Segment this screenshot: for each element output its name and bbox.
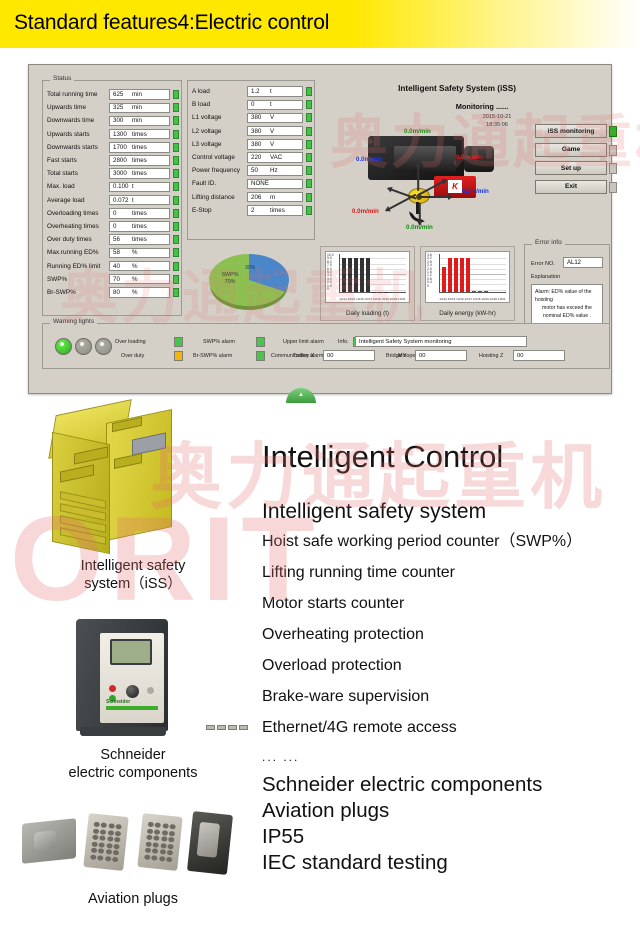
- plug-pin: [167, 843, 173, 849]
- status-row-label: Over duty times: [47, 236, 109, 243]
- status-row: Over duty times56times: [43, 233, 181, 246]
- status-row-field[interactable]: 58%: [109, 248, 170, 259]
- lamp-indicator-2: [75, 338, 92, 355]
- status-row-unit: Hz: [270, 167, 278, 174]
- error-no-field[interactable]: AL12: [563, 257, 603, 268]
- status-row-led: [306, 127, 312, 136]
- status-row-unit: t: [132, 197, 134, 204]
- status-row: Downwards starts1700times: [43, 141, 181, 154]
- status-row: Overloading times0times: [43, 207, 181, 220]
- status-row-label: SWP%: [47, 276, 109, 283]
- status-row: Max.running ED%58%: [43, 246, 181, 259]
- plug-pin: [145, 848, 151, 854]
- plug-pin: [159, 849, 165, 855]
- status-row-field[interactable]: 220VAC: [247, 152, 303, 163]
- tail-list: Schneider electric componentsAviation pl…: [262, 772, 634, 877]
- plug-pin: [146, 834, 152, 840]
- chart-xtick: 10/17: [365, 297, 373, 301]
- drive-screen: [110, 639, 152, 665]
- status-row: Average load0.072t: [43, 194, 181, 207]
- status-row-label: Upwards time: [47, 104, 109, 111]
- status-row-label: Total running time: [47, 91, 109, 98]
- plug-pin: [99, 842, 105, 848]
- chart-xtick: 10/14: [339, 297, 347, 301]
- hmi-screenshot-panel: Status Total running time625minUpwards t…: [28, 64, 612, 394]
- warning-indicator: [256, 337, 265, 347]
- daily-loading-yticks: 10.09.08.07.06.05.04.03.02.01.00: [327, 254, 334, 291]
- status-row-label: Downwards time: [47, 117, 109, 124]
- hmi-button-indicator: [609, 182, 617, 193]
- status-row-value: 1300: [110, 131, 132, 138]
- status-row-label: Upwards starts: [47, 131, 109, 138]
- status-row-label: Br-SWP%: [47, 289, 109, 296]
- feature-item: Motor starts counter: [262, 595, 634, 613]
- explanation-line-3: nominal ED% value .: [535, 312, 599, 320]
- status-row: SWP%70%: [43, 273, 181, 286]
- plug-pin: [107, 836, 113, 842]
- status-row-field[interactable]: 1700times: [109, 142, 170, 153]
- hmi-button-label: Exit: [565, 183, 577, 190]
- chart-xtick: 10/20: [490, 297, 498, 301]
- feature-list: Hoist safe working period counter（SWP%）L…: [262, 533, 634, 736]
- status-row: Upwards time325min: [43, 101, 181, 114]
- status-row-led: [173, 143, 179, 152]
- daily-loading-plot: [339, 254, 406, 293]
- warning-indicator: [174, 337, 183, 347]
- status-row-unit: V: [270, 114, 274, 121]
- warning-label: Over loading: [115, 339, 146, 345]
- status-row-unit: V: [270, 141, 274, 148]
- schneider-brand-bar: [106, 706, 158, 710]
- plug-pin: [116, 824, 122, 830]
- plug-pin: [100, 829, 106, 835]
- product-caption-schneider: Schneider electric components: [14, 747, 252, 782]
- status-row-led: [306, 166, 312, 175]
- status-row: Lifting distance206m: [188, 191, 314, 204]
- status-row-value: 300: [110, 117, 132, 124]
- status-row-field[interactable]: 1300times: [109, 129, 170, 140]
- status-row-value: 80: [110, 289, 132, 296]
- status-row-label: L3 voltage: [192, 141, 247, 148]
- hmi-button-game[interactable]: Game: [535, 143, 607, 157]
- status-row-label: Max.running ED%: [47, 249, 109, 256]
- status-row-field[interactable]: 0.072t: [109, 195, 170, 206]
- warning-indicator: [174, 351, 183, 361]
- speed-up: 0.0m/min: [404, 128, 431, 135]
- plug-pin: [145, 841, 151, 847]
- plug-pin: [108, 823, 114, 829]
- status-row-value: 1.2: [248, 88, 270, 95]
- status-row-value: 70: [110, 276, 132, 283]
- status-row-field[interactable]: NONE: [247, 179, 303, 190]
- chart-xtick: 10/15: [348, 297, 356, 301]
- chart-xtick: 10/14: [439, 297, 447, 301]
- hmi-button-exit[interactable]: Exit: [535, 180, 607, 194]
- plug-pin: [90, 854, 96, 860]
- tail-item: IP55: [262, 824, 634, 850]
- plug-pin: [113, 843, 119, 849]
- status-row-label: B load: [192, 101, 247, 108]
- daily-energy-yticks: 3.63.22.82.42.01.61.20.80.40: [427, 254, 432, 288]
- status-row-unit: t: [270, 88, 272, 95]
- chart-xtick: 10/21: [398, 297, 406, 301]
- status-row-value: 3000: [110, 170, 132, 177]
- plug-pin: [112, 856, 118, 862]
- chart-xtick: 10/21: [498, 297, 506, 301]
- status-row-field[interactable]: 80%: [109, 287, 170, 298]
- status-row-label: Power frequency: [192, 167, 247, 174]
- chart-xtick: 10/19: [381, 297, 389, 301]
- status-row-label: Control voltage: [192, 154, 247, 161]
- chart-bar: [448, 258, 452, 292]
- status-row-value: 220: [248, 154, 270, 161]
- status-row-field[interactable]: 3000times: [109, 168, 170, 179]
- status-row-field[interactable]: 70%: [109, 274, 170, 285]
- daily-energy-xticks: 10/1410/1510/1610/1710/1810/1910/2010/21: [439, 297, 506, 301]
- error-info-title: Error info: [532, 239, 565, 246]
- hmi-button-column: iSS monitoringGameSet upExit: [535, 124, 607, 198]
- status-row-value: 0: [248, 101, 270, 108]
- chart-xtick: 10/17: [465, 297, 473, 301]
- plug-pin: [153, 835, 159, 841]
- daily-energy-chart: 3.63.22.82.42.01.61.20.80.40 10/1410/151…: [420, 246, 515, 321]
- plug-pin: [166, 856, 172, 862]
- feature-item: Ethernet/4G remote access: [262, 719, 634, 737]
- plug-pin: [154, 829, 160, 835]
- warning-indicator: [256, 351, 265, 361]
- chart-bar: [348, 258, 352, 292]
- chart-bar: [360, 258, 364, 292]
- status-row-field[interactable]: 300min: [109, 116, 170, 127]
- iss-caption-line2: system（iSS）: [14, 576, 252, 594]
- aviation-plugs-image: [14, 801, 252, 887]
- hmi-button-indicator: [609, 163, 617, 174]
- daily-energy-plot: [439, 254, 506, 293]
- status-row-label: Average load: [47, 197, 109, 204]
- status-row-led: [173, 130, 179, 139]
- status-row-value: 325: [110, 104, 132, 111]
- status-row-unit: VAC: [270, 154, 282, 161]
- sub-heading: Intelligent safety system: [262, 500, 634, 523]
- hoisting-z-field[interactable]: 00: [513, 350, 565, 361]
- status-row-led: [173, 90, 179, 99]
- status-row-label: Overloading times: [47, 210, 109, 217]
- daily-loading-xticks: 10/1410/1510/1610/1710/1810/1910/2010/21: [339, 297, 406, 301]
- product-column: Intelligent safety system（iSS） Schneider…: [14, 404, 252, 908]
- status-row-led: [173, 156, 179, 165]
- status-row: L3 voltage380V: [188, 138, 314, 151]
- product-caption-iss: Intelligent safety system（iSS）: [14, 558, 252, 593]
- status-row-unit: %: [132, 289, 138, 296]
- status-row-label: Fault ID.: [192, 180, 247, 187]
- status-row-led: [173, 196, 179, 205]
- hmi-button-label: iSS monitoring: [548, 128, 595, 135]
- trolley-x-field[interactable]: 00: [323, 350, 375, 361]
- status-row-led: [173, 103, 179, 112]
- chart-bar: [466, 258, 470, 292]
- schneider-caption-line1: Schneider: [14, 747, 252, 765]
- status-row-label: Running ED% limit: [47, 263, 109, 270]
- status-row: Downwards time300min: [43, 114, 181, 127]
- info-label: Info.: [338, 339, 349, 345]
- chart-xtick: 10/18: [473, 297, 481, 301]
- warning-label: SWP% alarm: [203, 339, 235, 345]
- status-row-led: [306, 193, 312, 202]
- status-row-led: [173, 235, 179, 244]
- title-banner: Standard features4:Electric control: [0, 0, 640, 48]
- status-row-value: 380: [248, 141, 270, 148]
- status-row-led: [173, 288, 179, 297]
- status-row-unit: m: [270, 194, 275, 201]
- plug-pin: [94, 821, 100, 827]
- bridge-y-label: Bridge Y: [386, 353, 407, 359]
- status-row: Power frequency50Hz: [188, 164, 314, 177]
- speed-left-up: 0.0m/min: [356, 156, 383, 163]
- status-row-value: 0: [110, 223, 132, 230]
- feature-item: Lifting running time counter: [262, 564, 634, 582]
- swp-pie-chart: SWP% 70% 30%: [187, 246, 315, 318]
- plug-pin: [92, 834, 98, 840]
- tail-item: IEC standard testing: [262, 850, 634, 876]
- chart-bar: [484, 291, 488, 292]
- status-row-field[interactable]: 0times: [109, 221, 170, 232]
- chart-xtick: 10/18: [373, 297, 381, 301]
- status-row-field[interactable]: 2800times: [109, 155, 170, 166]
- plug-pin: [115, 830, 121, 836]
- status-row-value: 380: [248, 128, 270, 135]
- plug-pin: [148, 821, 154, 827]
- lamp-indicator-1: [55, 338, 72, 355]
- status-row: L2 voltage380V: [188, 125, 314, 138]
- status-row-led: [173, 262, 179, 271]
- plug-pin: [91, 841, 97, 847]
- status-row-field[interactable]: 56times: [109, 234, 170, 245]
- status-row-field[interactable]: 380V: [247, 113, 303, 124]
- status-row-led: [173, 275, 179, 284]
- feature-item: Overheating protection: [262, 626, 634, 644]
- status-row-led: [306, 179, 312, 188]
- status-row-field[interactable]: 380V: [247, 139, 303, 150]
- status-row-label: A load: [192, 88, 247, 95]
- warning-label: Over duty: [121, 353, 144, 359]
- page-title: Standard features4:Electric control: [14, 11, 329, 35]
- status-row-label: Max. load: [47, 183, 109, 190]
- status-row-field[interactable]: 206m: [247, 192, 303, 203]
- plug-pin: [97, 855, 103, 861]
- measurements-group: A load1.2tB load0tL1 voltage380VL2 volta…: [187, 80, 315, 240]
- plug-pin: [155, 822, 161, 828]
- status-row-unit: times: [132, 131, 147, 138]
- error-no-label: Error NO.: [531, 261, 555, 267]
- status-row: Overheating times0times: [43, 220, 181, 233]
- iss-caption-line1: Intelligent safety: [14, 558, 252, 576]
- status-row-value: 0: [110, 210, 132, 217]
- iss-panel-title: Intelligent Safety System (iSS): [372, 84, 542, 93]
- bridge-y-field[interactable]: 00: [415, 350, 467, 361]
- chart-xtick: 10/16: [356, 297, 364, 301]
- schneider-caption-line2: electric components: [14, 765, 252, 783]
- status-row-unit: times: [132, 170, 147, 177]
- schneider-drive-image: Schneider: [14, 613, 252, 743]
- plug-pin: [105, 849, 111, 855]
- hmi-button-set-up[interactable]: Set up: [535, 161, 607, 175]
- plug-pin: [144, 854, 150, 860]
- chart-bar: [460, 258, 464, 292]
- status-row-unit: times: [132, 223, 147, 230]
- status-row-label: L2 voltage: [192, 128, 247, 135]
- status-row-field[interactable]: 40%: [109, 261, 170, 272]
- status-row-value: 625: [110, 91, 132, 98]
- status-row-led: [173, 116, 179, 125]
- status-row-value: 58: [110, 249, 132, 256]
- chart-xtick: 10/15: [448, 297, 456, 301]
- content-column: Intelligent Control Intelligent safety s…: [262, 440, 634, 876]
- plug-pin: [151, 855, 157, 861]
- status-row-led: [306, 100, 312, 109]
- status-row-label: E-Stop: [192, 207, 247, 214]
- plug-pin: [106, 843, 112, 849]
- status-row: Total running time625min: [43, 88, 181, 101]
- daily-energy-caption: Daily energy (kW-hr): [421, 310, 514, 317]
- status-row-led: [306, 153, 312, 162]
- info-field[interactable]: Intelligent Safety System monitoring: [355, 336, 527, 347]
- plug-pin: [114, 837, 120, 843]
- tail-item: Schneider electric components: [262, 772, 634, 798]
- plug-pin: [153, 842, 159, 848]
- plug-pin: [98, 848, 104, 854]
- status-row-led: [173, 209, 179, 218]
- warning-lights-title: Warning lights: [50, 318, 97, 325]
- status-row-led: [173, 248, 179, 257]
- status-row-value: 56: [110, 236, 132, 243]
- status-row-value: NONE: [248, 180, 270, 187]
- iss-time: 18:35:06: [457, 122, 537, 128]
- status-row-unit: %: [132, 249, 138, 256]
- status-row-field[interactable]: 0t: [247, 100, 303, 111]
- chart-xtick: 10/16: [456, 297, 464, 301]
- iss-date: 2015-10-21: [457, 114, 537, 120]
- status-row-value: 2800: [110, 157, 132, 164]
- status-group-title: Status: [50, 75, 74, 82]
- status-row-unit: %: [132, 276, 138, 283]
- lamp-indicator-3: [95, 338, 112, 355]
- plug-pin: [108, 829, 114, 835]
- chart-bar: [366, 258, 370, 292]
- chart-ytick: 0: [427, 285, 432, 288]
- status-row-label: Overheating times: [47, 223, 109, 230]
- status-row-led: [306, 87, 312, 96]
- hmi-button-iss-monitoring[interactable]: iSS monitoring: [535, 124, 607, 138]
- status-row-unit: times: [132, 157, 147, 164]
- pie-label-remainder: 30%: [245, 265, 255, 271]
- status-row: Running ED% limit40%: [43, 259, 181, 272]
- status-row-value: 1700: [110, 144, 132, 151]
- plug-pin: [91, 848, 97, 854]
- chart-bar: [442, 267, 446, 292]
- explanation-line-1: Alarm: ED% value of the hoisting: [535, 289, 592, 303]
- status-row-value: 380: [248, 114, 270, 121]
- iss-monitoring-status: Monitoring ......: [422, 102, 542, 111]
- status-row-unit: t: [132, 183, 134, 190]
- hmi-button-label: Game: [562, 146, 580, 153]
- hmi-button-indicator: [609, 145, 617, 156]
- status-row-field[interactable]: 50Hz: [247, 165, 303, 176]
- daily-loading-caption: Daily loading (t): [321, 310, 414, 317]
- plug-pin: [162, 829, 168, 835]
- chart-bar: [454, 258, 458, 292]
- plug-pin: [99, 835, 105, 841]
- status-row-label: Lifting distance: [192, 194, 247, 201]
- speed-left-down: 0.0m/min: [352, 208, 379, 215]
- status-row-unit: min: [132, 104, 142, 111]
- status-row-field[interactable]: 1.2t: [247, 86, 303, 97]
- hmi-button-label: Set up: [561, 165, 581, 172]
- status-row-label: Downwards starts: [47, 144, 109, 151]
- plug-pin: [147, 828, 153, 834]
- status-row-label: Total starts: [47, 170, 109, 177]
- status-row-led: [173, 222, 179, 231]
- plug-pin: [160, 843, 166, 849]
- plug-pin: [169, 830, 175, 836]
- status-row: A load1.2t: [188, 85, 314, 98]
- iss-module-image: [14, 404, 252, 554]
- plug-pin: [101, 822, 107, 828]
- plug-pin: [113, 850, 119, 856]
- status-row: B load0t: [188, 98, 314, 111]
- feature-item: Overload protection: [262, 657, 634, 675]
- plug-pin: [105, 856, 111, 862]
- trolley-x-label: Trolley X: [293, 353, 314, 359]
- plug-pin: [162, 823, 168, 829]
- status-row-field[interactable]: 380V: [247, 126, 303, 137]
- status-row: Max. load0.100t: [43, 180, 181, 193]
- product-caption-plugs: Aviation plugs: [14, 891, 252, 909]
- status-row: Control voltage220VAC: [188, 151, 314, 164]
- status-row-unit: min: [132, 117, 142, 124]
- hoisting-z-label: Hoisting Z: [479, 353, 503, 359]
- status-row-value: 0.100: [110, 183, 132, 190]
- status-row-unit: times: [270, 207, 285, 214]
- plug-pin: [161, 836, 167, 842]
- status-row-field[interactable]: 0.100t: [109, 182, 170, 193]
- plug-pin: [159, 856, 165, 862]
- status-row-value: 0.072: [110, 197, 132, 204]
- status-row-unit: t: [270, 101, 272, 108]
- status-row-led: [306, 113, 312, 122]
- status-row-unit: times: [132, 144, 147, 151]
- chart-bar: [342, 258, 346, 292]
- tail-item: Aviation plugs: [262, 798, 634, 824]
- explanation-line-2: motor has exceed the: [535, 304, 599, 312]
- warning-label: Br-SWP% alarm: [193, 353, 232, 359]
- daily-loading-chart: 10.09.08.07.06.05.04.03.02.01.00 10/1410…: [320, 246, 415, 321]
- plugs-caption-line1: Aviation plugs: [14, 891, 252, 909]
- status-row-field[interactable]: 325min: [109, 103, 170, 114]
- status-row-value: 2: [248, 207, 270, 214]
- status-row-label: L1 voltage: [192, 114, 247, 121]
- status-row-field[interactable]: 0times: [109, 208, 170, 219]
- status-row-field[interactable]: 625min: [109, 89, 170, 100]
- status-row-field[interactable]: 2times: [247, 205, 303, 216]
- speed-down: 0.0m/min: [406, 224, 433, 231]
- status-row: Br-SWP%80%: [43, 286, 181, 299]
- status-row: Upwards starts1300times: [43, 128, 181, 141]
- plug-pin: [167, 850, 173, 856]
- plug-pin: [170, 824, 176, 830]
- status-row-label: Fast starts: [47, 157, 109, 164]
- status-row-unit: times: [132, 236, 147, 243]
- speed-right-up: 0.0m/min: [456, 154, 483, 161]
